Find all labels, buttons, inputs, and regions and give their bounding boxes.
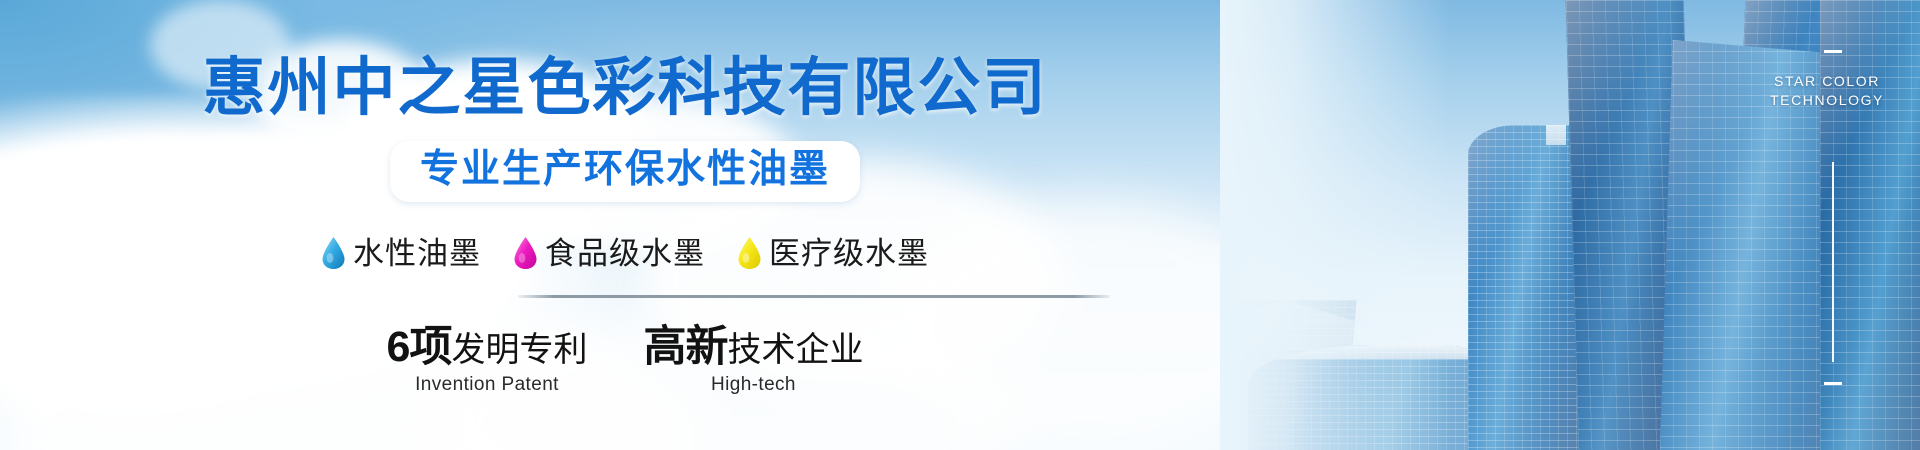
badge-strong-text: 6项: [387, 323, 452, 371]
badge-light-text: 发明专利: [451, 331, 587, 369]
skyline-label-line1: STAR COLOR: [1770, 72, 1884, 91]
water-drop-icon: [321, 236, 346, 270]
city-skyline-photo: STAR COLOR TECHNOLOGY: [1220, 0, 1920, 450]
badge-light-text: 技术企业: [727, 331, 863, 369]
company-title: 惠州中之星色彩科技有限公司: [0, 57, 1250, 120]
feature-item: 食品级水墨: [513, 236, 705, 270]
feature-label: 水性油墨: [353, 238, 481, 269]
label-dash-top: [1824, 50, 1842, 53]
water-drop-icon: [737, 236, 762, 270]
promo-banner: Star Color: [0, 0, 1920, 450]
tagline-pill: 专业生产环保水性油墨: [390, 141, 860, 202]
feature-item: 医疗级水墨: [737, 236, 929, 270]
label-dash-bottom: [1824, 382, 1842, 385]
badge-chinese: 高新技术企业: [643, 324, 863, 370]
feature-label: 食品级水墨: [545, 238, 705, 269]
skyline-label-line2: TECHNOLOGY: [1770, 91, 1884, 110]
building-round-glass-tower: [1468, 125, 1580, 450]
building-rounded-lowrise: [1248, 345, 1498, 450]
badge-item: 高新技术企业 High-tech: [643, 324, 863, 396]
badge-strong-text: 高新: [643, 323, 727, 371]
skyline-brand-label: STAR COLOR TECHNOLOGY: [1770, 72, 1884, 110]
tagline-container: 专业生产环保水性油墨: [0, 141, 1250, 202]
label-vertical-rule: [1832, 162, 1834, 362]
feature-item: 水性油墨: [321, 236, 481, 270]
section-divider: [518, 295, 1110, 298]
feature-list: 水性油墨 食品级水墨: [0, 236, 1250, 270]
banner-content: 惠州中之星色彩科技有限公司 专业生产环保水性油墨 水性油: [0, 0, 1250, 450]
badge-english: High-tech: [643, 374, 863, 396]
badge-item: 6项发明专利 Invention Patent: [387, 324, 588, 396]
water-drop-icon: [513, 236, 538, 270]
badge-list: 6项发明专利 Invention Patent 高新技术企业 High-tech: [0, 324, 1250, 396]
badge-chinese: 6项发明专利: [387, 324, 588, 370]
feature-label: 医疗级水墨: [769, 238, 929, 269]
badge-english: Invention Patent: [387, 374, 588, 396]
